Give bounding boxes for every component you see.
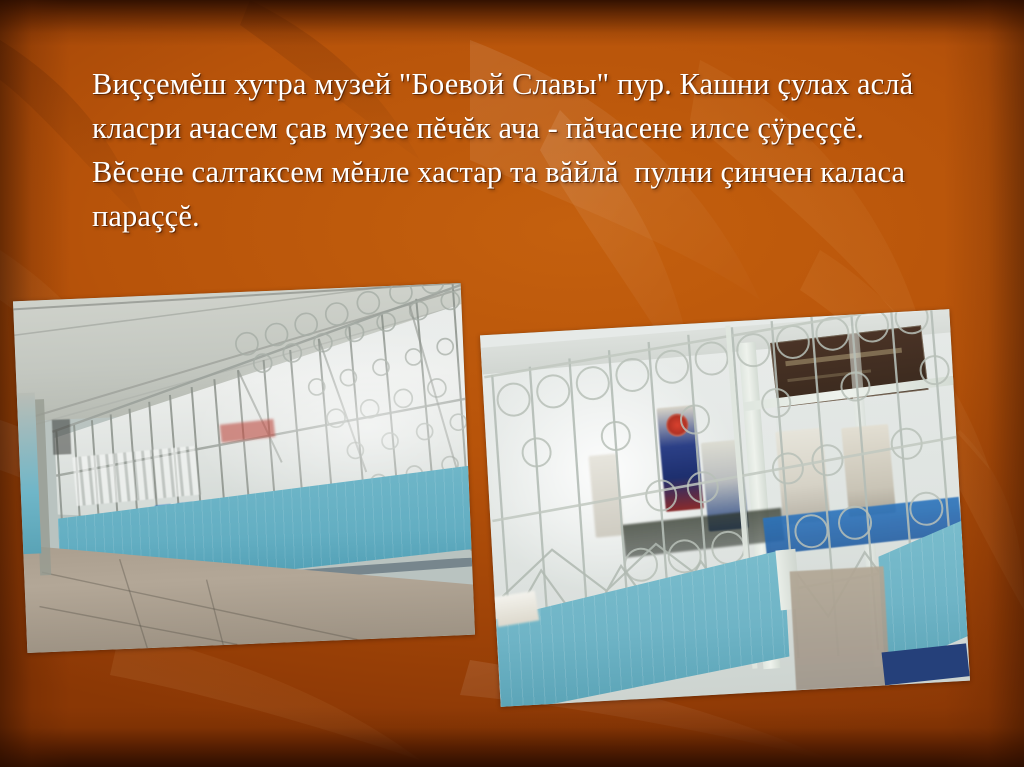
slide-body-text: Виççемĕш хутра музей "Боевой Славы" пур.… <box>92 62 948 238</box>
corridor-floor-tile-lines <box>13 283 475 653</box>
background-vignette-bottom <box>0 707 1024 767</box>
photo-corridor-content <box>13 283 475 653</box>
photo-museum-entrance-content <box>480 309 970 707</box>
museum-interior-floor <box>790 566 890 690</box>
presentation-slide: Виççемĕш хутра музей "Боевой Славы" пур.… <box>0 0 1024 767</box>
photo-corridor[interactable] <box>13 283 475 653</box>
photo-museum-entrance[interactable] <box>480 309 970 707</box>
background-vignette-top <box>0 0 1024 46</box>
